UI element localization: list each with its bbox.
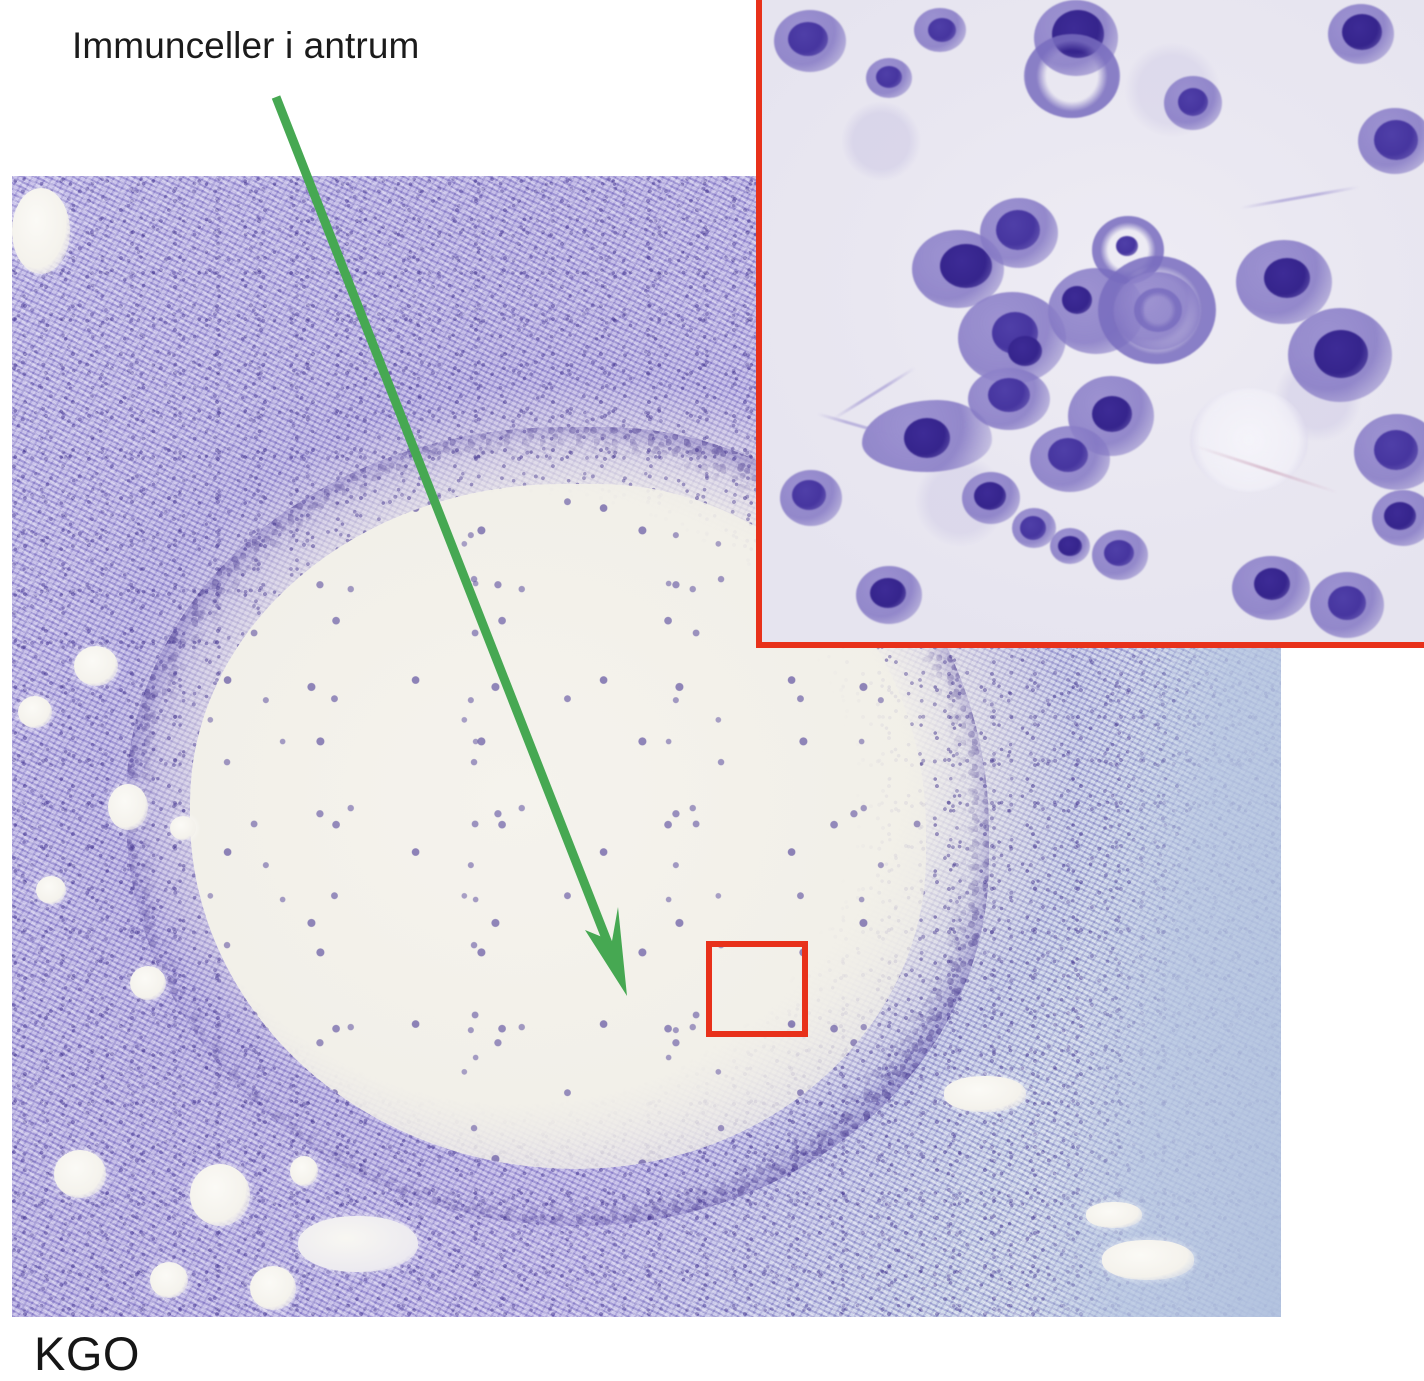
cell-nucleus [996, 210, 1040, 250]
follicular-lacuna [250, 1266, 296, 1310]
cell-nucleus [1384, 502, 1416, 530]
cell-nucleus [1264, 258, 1310, 298]
follicular-lacuna [108, 784, 148, 830]
follicular-lacuna [190, 1164, 250, 1226]
cell-nucleus [1092, 396, 1132, 432]
cell-nucleus [1314, 330, 1368, 378]
follicular-lacuna [290, 1156, 318, 1186]
cell-nucleus [1058, 536, 1082, 556]
cell-nucleus-ring [1024, 34, 1120, 118]
follicular-lacuna [1086, 1202, 1142, 1228]
follicular-lacuna [944, 1076, 1026, 1112]
cell-nucleus [1178, 88, 1208, 116]
follicular-lacuna [150, 1262, 188, 1298]
follicular-lacuna [36, 876, 66, 904]
cell-nucleus [1062, 286, 1092, 314]
cell-nucleus-ring [1134, 288, 1182, 332]
magnified-inset-panel [756, 0, 1424, 648]
cell-nucleus [1104, 540, 1134, 566]
follicular-lacuna [298, 1216, 418, 1272]
cell-nucleus [788, 22, 828, 56]
cell-nucleus [974, 482, 1006, 510]
cell-nucleus [1374, 430, 1418, 470]
page-title: Immunceller i antrum [72, 26, 419, 66]
cell-nucleus [1048, 438, 1088, 472]
cell-nucleus [792, 480, 826, 510]
cell-nucleus [988, 378, 1030, 412]
red-roi-rectangle [706, 941, 808, 1037]
cell-nucleus [1342, 14, 1382, 50]
cell-nucleus [1116, 236, 1138, 256]
cell-nucleus [928, 18, 956, 42]
cell-nucleus [1020, 516, 1046, 540]
cell-nucleus [870, 578, 906, 608]
cell-nucleus [1254, 568, 1290, 600]
follicular-lacuna [1102, 1240, 1194, 1280]
follicular-lacuna [54, 1150, 106, 1198]
cell-nucleus [1374, 120, 1418, 160]
follicular-lacuna [130, 966, 166, 1000]
follicular-lacuna [12, 188, 70, 274]
cell-nucleus [1008, 336, 1042, 366]
cell-nucleus [1328, 586, 1366, 620]
cell-nucleus [904, 418, 950, 458]
follicular-lacuna [18, 696, 52, 728]
cell-nucleus [876, 66, 902, 88]
follicular-lacuna [170, 816, 196, 840]
cell-nucleus [940, 244, 992, 288]
follicular-lacuna [74, 646, 118, 686]
